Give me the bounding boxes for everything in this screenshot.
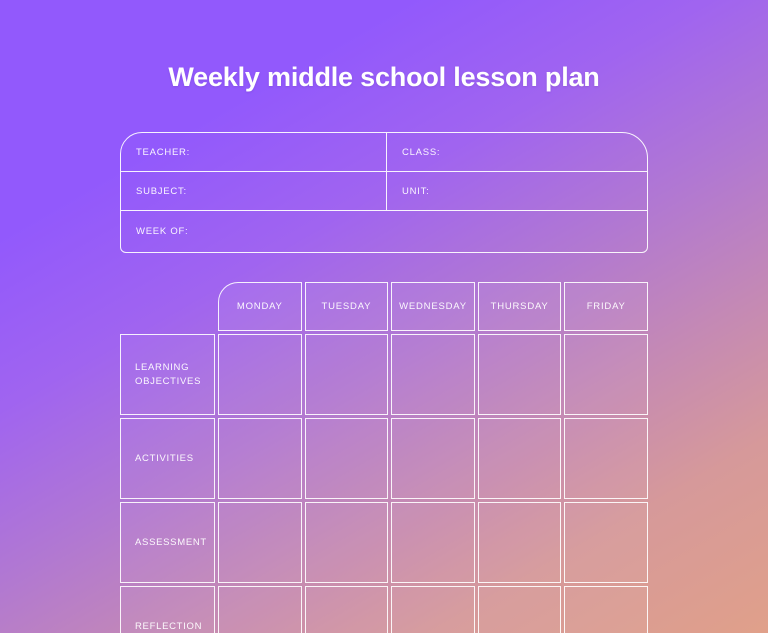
entry-cell-learning-objectives-tuesday[interactable] — [305, 334, 389, 415]
row-label-col: REFLECTION — [120, 586, 215, 633]
entry-cell-reflection-monday[interactable] — [218, 586, 302, 633]
entry-cell-assessment-tuesday[interactable] — [305, 502, 389, 583]
info-field-week-of[interactable]: WEEK OF: — [121, 211, 647, 252]
entry-cell-assessment-monday[interactable] — [218, 502, 302, 583]
lesson-info-box: TEACHER: CLASS: SUBJECT: UNIT: WEEK OF: — [120, 132, 648, 253]
cell-col — [218, 586, 302, 633]
entry-cell-learning-objectives-monday[interactable] — [218, 334, 302, 415]
cell-col — [218, 418, 302, 499]
day-column-tuesday: TUESDAY — [305, 282, 389, 331]
entry-cell-assessment-friday[interactable] — [564, 502, 648, 583]
cell-col — [478, 502, 562, 583]
cell-col — [478, 418, 562, 499]
cell-col — [305, 334, 389, 415]
cell-col — [391, 586, 475, 633]
cell-col — [564, 418, 648, 499]
entry-cell-learning-objectives-wednesday[interactable] — [391, 334, 475, 415]
cell-col — [391, 502, 475, 583]
info-row-week-of: WEEK OF: — [121, 211, 647, 252]
info-field-unit[interactable]: UNIT: — [387, 172, 647, 210]
entry-cell-reflection-wednesday[interactable] — [391, 586, 475, 633]
info-label-class: CLASS: — [402, 147, 440, 158]
info-label-teacher: TEACHER: — [136, 147, 190, 158]
day-header-thursday[interactable]: THURSDAY — [478, 282, 562, 331]
page-title: Weekly middle school lesson plan — [0, 62, 768, 93]
row-header-activities: ACTIVITIES — [120, 418, 215, 499]
info-label-subject: SUBJECT: — [136, 186, 187, 197]
day-column-monday: MONDAY — [218, 282, 302, 331]
day-header-wednesday[interactable]: WEDNESDAY — [391, 282, 475, 331]
entry-cell-reflection-thursday[interactable] — [478, 586, 562, 633]
row-header-learning-objectives: LEARNING OBJECTIVES — [120, 334, 215, 415]
info-field-subject[interactable]: SUBJECT: — [121, 172, 387, 210]
planner-row-assessment: ASSESSMENT — [120, 502, 648, 583]
cell-col — [478, 586, 562, 633]
entry-cell-activities-friday[interactable] — [564, 418, 648, 499]
day-header-label: THURSDAY — [491, 301, 549, 312]
entry-cell-assessment-wednesday[interactable] — [391, 502, 475, 583]
weekly-planner-grid: MONDAY TUESDAY WEDNESDAY THURSDAY FRIDAY — [120, 282, 648, 633]
day-header-friday[interactable]: FRIDAY — [564, 282, 648, 331]
day-header-label: WEDNESDAY — [399, 301, 467, 312]
planner-row-reflection: REFLECTION — [120, 586, 648, 633]
planner-row-learning-objectives: LEARNING OBJECTIVES — [120, 334, 648, 415]
entry-cell-learning-objectives-thursday[interactable] — [478, 334, 562, 415]
day-column-thursday: THURSDAY — [478, 282, 562, 331]
day-header-label: MONDAY — [237, 301, 283, 312]
entry-cell-activities-tuesday[interactable] — [305, 418, 389, 499]
entry-cell-assessment-thursday[interactable] — [478, 502, 562, 583]
cell-col — [305, 586, 389, 633]
row-label-col: LEARNING OBJECTIVES — [120, 334, 215, 415]
row-header-assessment: ASSESSMENT — [120, 502, 215, 583]
info-row-teacher-class: TEACHER: CLASS: — [121, 133, 647, 172]
cell-col — [564, 334, 648, 415]
cell-col — [478, 334, 562, 415]
cell-col — [305, 502, 389, 583]
cell-col — [391, 418, 475, 499]
cell-col — [391, 334, 475, 415]
row-header-label: LEARNING OBJECTIVES — [135, 361, 214, 389]
day-header-tuesday[interactable]: TUESDAY — [305, 282, 389, 331]
entry-cell-activities-wednesday[interactable] — [391, 418, 475, 499]
row-header-label: ACTIVITIES — [135, 452, 194, 466]
day-header-label: TUESDAY — [322, 301, 372, 312]
cell-col — [218, 502, 302, 583]
entry-cell-activities-thursday[interactable] — [478, 418, 562, 499]
info-label-unit: UNIT: — [402, 186, 430, 197]
entry-cell-reflection-tuesday[interactable] — [305, 586, 389, 633]
row-header-label: REFLECTION — [135, 620, 202, 633]
row-header-reflection: REFLECTION — [120, 586, 215, 633]
row-label-col: ASSESSMENT — [120, 502, 215, 583]
entry-cell-activities-monday[interactable] — [218, 418, 302, 499]
cell-col — [564, 586, 648, 633]
row-label-col: ACTIVITIES — [120, 418, 215, 499]
cell-col — [305, 418, 389, 499]
info-field-class[interactable]: CLASS: — [387, 133, 647, 171]
day-column-friday: FRIDAY — [564, 282, 648, 331]
info-row-subject-unit: SUBJECT: UNIT: — [121, 172, 647, 211]
day-column-wednesday: WEDNESDAY — [391, 282, 475, 331]
planner-row-activities: ACTIVITIES — [120, 418, 648, 499]
day-header-monday[interactable]: MONDAY — [218, 282, 302, 331]
planner-corner-cell — [120, 282, 215, 331]
planner-header-row: MONDAY TUESDAY WEDNESDAY THURSDAY FRIDAY — [120, 282, 648, 331]
cell-col — [564, 502, 648, 583]
entry-cell-learning-objectives-friday[interactable] — [564, 334, 648, 415]
day-header-label: FRIDAY — [587, 301, 626, 312]
cell-col — [218, 334, 302, 415]
info-field-teacher[interactable]: TEACHER: — [121, 133, 387, 171]
entry-cell-reflection-friday[interactable] — [564, 586, 648, 633]
row-header-label: ASSESSMENT — [135, 536, 207, 550]
info-label-week-of: WEEK OF: — [136, 226, 188, 237]
